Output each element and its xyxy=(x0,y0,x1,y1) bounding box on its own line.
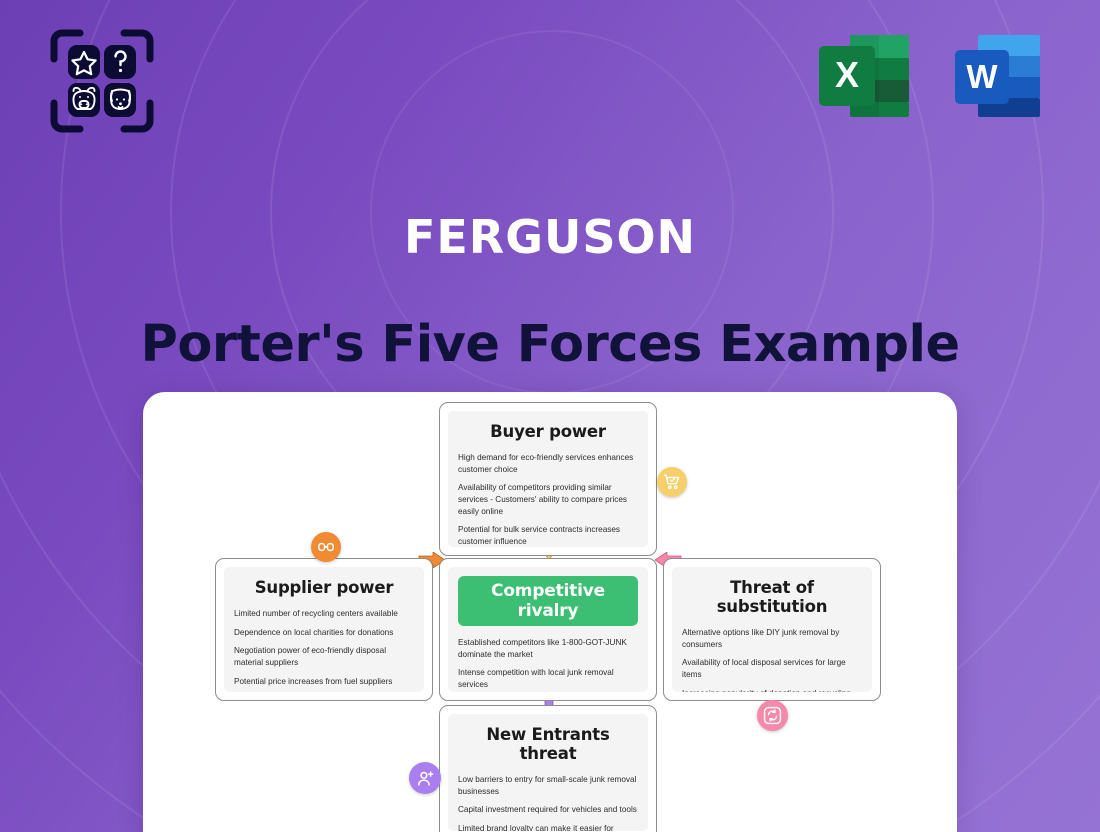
list-item: Low barriers to entry for small-scale ju… xyxy=(458,774,638,797)
list-item: Potential price increases from fuel supp… xyxy=(234,676,414,688)
dog-icon-tile xyxy=(104,83,136,117)
slide-canvas: X W FERGUSON Porter's Five Forces Exampl… xyxy=(0,0,1100,832)
list-item: Limited brand loyalty can make it easier… xyxy=(458,823,638,831)
bullet-list: Limited number of recycling centers avai… xyxy=(234,608,414,692)
list-item: Negotiation power of eco-friendly dispos… xyxy=(234,645,414,668)
list-item: Availability of local disposal services … xyxy=(682,657,862,680)
card-body: Buyer power High demand for eco-friendly… xyxy=(448,411,648,547)
porters-five-forces-diagram: Buyer power High demand for eco-friendly… xyxy=(143,392,957,832)
card-new-entrants-threat[interactable]: New Entrants threat Low barriers to entr… xyxy=(439,705,657,832)
link-chain-icon[interactable] xyxy=(311,532,341,562)
card-title: Threat of substitution xyxy=(682,578,862,616)
list-item: Dependence on local charities for donati… xyxy=(234,627,414,639)
word-icon[interactable]: W xyxy=(953,30,1045,122)
bullet-list: Low barriers to entry for small-scale ju… xyxy=(458,774,638,831)
list-item: Increasing popularity of donation and re… xyxy=(682,688,862,692)
list-item: Potential for bulk service contracts inc… xyxy=(458,524,638,547)
add-user-icon[interactable] xyxy=(409,762,441,794)
bullet-list: High demand for eco-friendly services en… xyxy=(458,452,638,547)
page-title: Porter's Five Forces Example xyxy=(0,315,1100,374)
card-body: Threat of substitution Alternative optio… xyxy=(672,567,872,692)
svg-text:X: X xyxy=(835,54,859,95)
diagram-canvas: Buyer power High demand for eco-friendly… xyxy=(143,392,957,832)
card-buyer-power[interactable]: Buyer power High demand for eco-friendly… xyxy=(439,402,657,556)
office-app-icons: X W xyxy=(817,30,1045,122)
card-competitive-rivalry[interactable]: Competitive rivalry Established competit… xyxy=(439,558,657,701)
bullet-list: Established competitors like 1-800-GOT-J… xyxy=(458,637,638,692)
brand-name: FERGUSON xyxy=(0,210,1100,264)
card-body: New Entrants threat Low barriers to entr… xyxy=(448,714,648,831)
card-body: Supplier power Limited number of recycli… xyxy=(224,567,424,692)
card-title: Buyer power xyxy=(458,422,638,441)
list-item: Capital investment required for vehicles… xyxy=(458,804,638,816)
list-item: Established competitors like 1-800-GOT-J… xyxy=(458,637,638,660)
refresh-sync-icon[interactable] xyxy=(757,700,788,731)
card-title: New Entrants threat xyxy=(458,725,638,763)
ferguson-quad-logo[interactable] xyxy=(48,27,156,135)
card-title: Competitive rivalry xyxy=(458,576,638,626)
card-body: Competitive rivalry Established competit… xyxy=(448,567,648,692)
card-threat-of-substitution[interactable]: Threat of substitution Alternative optio… xyxy=(663,558,881,701)
card-supplier-power[interactable]: Supplier power Limited number of recycli… xyxy=(215,558,433,701)
list-item: High demand for eco-friendly services en… xyxy=(458,452,638,475)
excel-icon[interactable]: X xyxy=(817,30,909,122)
list-item: Intense competition with local junk remo… xyxy=(458,667,638,690)
shopping-cart-icon[interactable] xyxy=(657,467,687,497)
svg-text:W: W xyxy=(966,58,998,95)
list-item: Availability of competitors providing si… xyxy=(458,482,638,517)
bullet-list: Alternative options like DIY junk remova… xyxy=(682,627,862,692)
list-item: Alternative options like DIY junk remova… xyxy=(682,627,862,650)
card-title: Supplier power xyxy=(234,578,414,597)
list-item: Limited number of recycling centers avai… xyxy=(234,608,414,620)
